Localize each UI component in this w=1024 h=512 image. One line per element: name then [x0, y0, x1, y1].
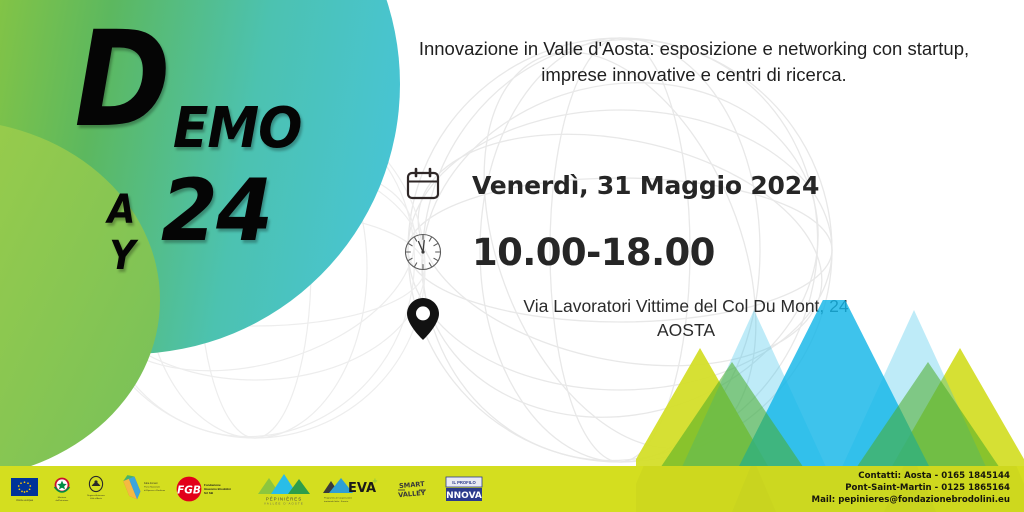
contact-line-pont: Pont-Saint-Martin - 0125 1865164: [812, 482, 1010, 494]
event-time-row: 10.00-18.00: [392, 218, 912, 286]
repubblica-italiana-logo: Ministero dell'Istruzione: [49, 472, 75, 506]
eva-plus-logo: EVA + Programma di Cooperazione territor…: [322, 472, 380, 506]
map-pin-icon: [392, 295, 454, 343]
logo-text-emo: EMO: [173, 106, 302, 152]
svg-text:Valle d'Aosta: Valle d'Aosta: [90, 497, 103, 500]
event-date-text: Venerdì, 31 Maggio 2024: [454, 171, 912, 200]
clock-icon: [392, 230, 454, 274]
contact-line-mail: Mail: pepinieres@fondazionebrodolini.eu: [812, 494, 1010, 506]
event-poster: D EMO A Y 24 Innovazione in Valle d'Aost…: [0, 0, 1024, 512]
regione-valle-aosta-logo: Regione Autonoma Valle d'Aosta: [84, 472, 108, 506]
svg-text:territoriale Italia - Francia: territoriale Italia - Francia: [324, 500, 349, 503]
svg-text:+: +: [372, 477, 378, 485]
pepinieres-logo: PÉPINIÈRES VALLÉE D'AOSTE: [255, 472, 313, 506]
contact-line-aosta: Contatti: Aosta - 0165 1845144: [812, 470, 1010, 482]
svg-text:FGB: FGB: [177, 484, 201, 496]
calendar-icon: [392, 165, 454, 205]
svg-text:Regione Autonoma: Regione Autonoma: [87, 494, 106, 497]
svg-text:Srl SB: Srl SB: [204, 491, 214, 495]
svg-text:Piano Nazionale: Piano Nazionale: [144, 486, 161, 488]
svg-text:IL PROFILO: IL PROFILO: [452, 480, 476, 485]
logo-letter-y: Y: [109, 240, 134, 273]
contact-info: Contatti: Aosta - 0165 1845144 Pont-Sain…: [812, 470, 1010, 507]
eu-flag-logo: Unione europea: [10, 472, 40, 506]
logo-year-24: 24: [161, 176, 271, 247]
mountain-graphic: [636, 300, 1024, 480]
sponsor-logo-strip: Unione europea Ministero dell'Istruzione…: [10, 468, 484, 510]
svg-text:NNOVA: NNOVA: [446, 491, 482, 501]
event-time-text: 10.00-18.00: [454, 231, 912, 274]
svg-text:VALLÉE D'AOSTE: VALLÉE D'AOSTE: [264, 501, 304, 506]
poster-headline: Innovazione in Valle d'Aosta: esposizion…: [388, 36, 1000, 89]
svg-text:di Ripresa e Resilienza: di Ripresa e Resilienza: [144, 489, 165, 492]
smart-valley-logo: SMART VALLEY: [389, 472, 435, 506]
logo-letter-a: A: [108, 194, 135, 227]
event-date-row: Venerdì, 31 Maggio 2024: [392, 152, 912, 218]
pnrr-logo: Italia domani Piano Nazionale di Ripresa…: [117, 472, 165, 506]
logo-letter-d: D: [74, 26, 168, 134]
svg-text:dell'Istruzione: dell'Istruzione: [56, 499, 69, 502]
svg-text:Ministero: Ministero: [58, 496, 67, 499]
svg-text:Unione europea: Unione europea: [16, 499, 34, 502]
innova-logo: IL PROFILO NNOVA: [444, 472, 484, 506]
demo-day-logo: D EMO A Y 24: [48, 18, 378, 288]
svg-text:Programma di Cooperazione: Programma di Cooperazione: [324, 497, 353, 500]
fgb-logo: FGB Fondazione Giacomo Brodolini Srl SB: [174, 472, 246, 506]
svg-text:Italia domani: Italia domani: [144, 482, 158, 485]
